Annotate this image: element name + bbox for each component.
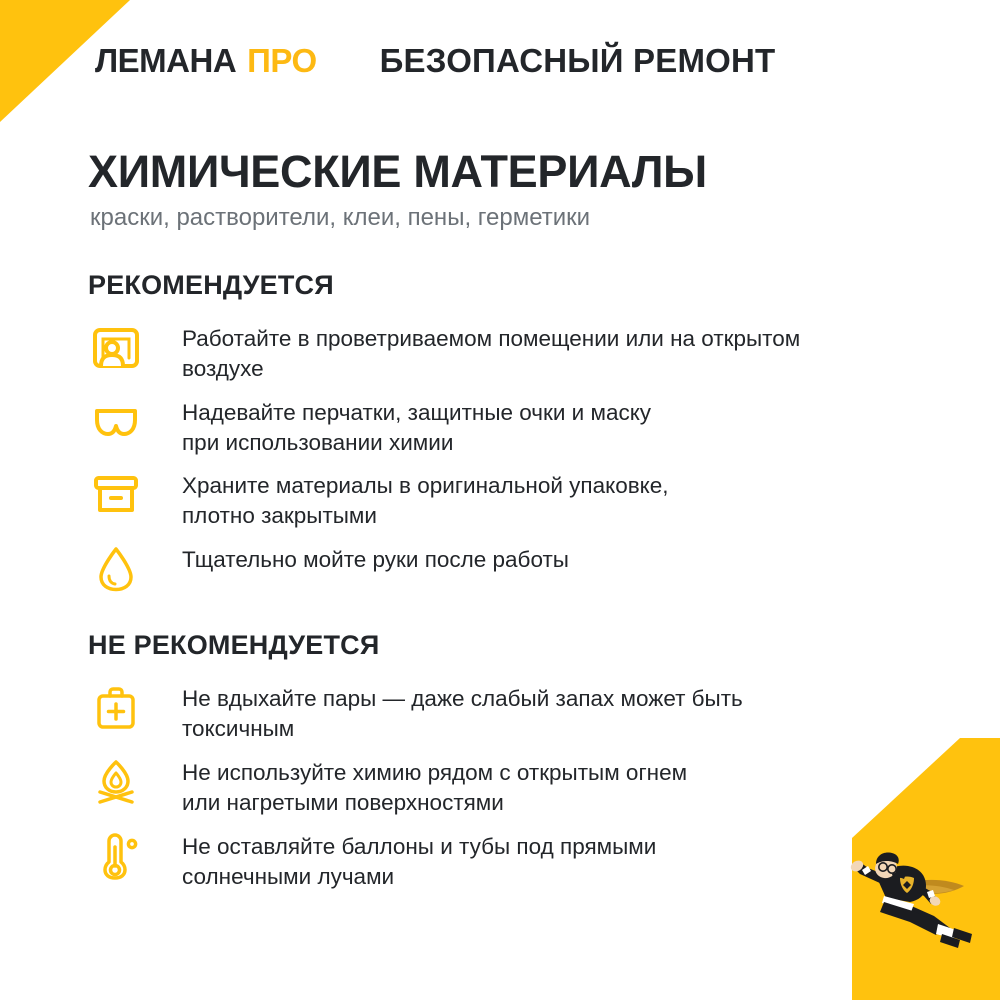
thermometer-icon: [88, 830, 144, 882]
header-title: БЕЗОПАСНЫЙ РЕМОНТ: [380, 42, 776, 80]
list-item-text: Не оставляйте баллоны и тубы под прямыми…: [182, 830, 656, 892]
page-subtitle: краски, растворители, клеи, пены, гермет…: [90, 204, 590, 232]
logo-text-lemana: ЛЕМАНА: [95, 42, 236, 80]
safety-goggles-icon: [88, 396, 144, 448]
storage-box-icon: [88, 469, 144, 521]
section-not-recommended: НЕ РЕКОМЕНДУЕТСЯ Не вдыхайте пары — даже…: [88, 630, 908, 904]
not-recommended-list: Не вдыхайте пары — даже слабый запах мож…: [88, 682, 908, 904]
list-item-text: Надевайте перчатки, защитные очки и маск…: [182, 396, 651, 458]
section-recommended: РЕКОМЕНДУЕТСЯ Работайте в проветриваемом…: [88, 270, 908, 612]
list-item: Работайте в проветриваемом помещении или…: [88, 322, 908, 384]
list-item-text: Не используйте химию рядом с открытым ог…: [182, 756, 687, 818]
list-item-text: Тщательно мойте руки после работы: [182, 543, 569, 575]
brand-logo: ЛЕМАНА ПРО: [95, 42, 317, 80]
flying-superhero-mascot: [838, 842, 978, 952]
header: ЛЕМАНА ПРО БЕЗОПАСНЫЙ РЕМОНТ: [95, 42, 775, 80]
list-item-text: Работайте в проветриваемом помещении или…: [182, 322, 800, 384]
list-item: Надевайте перчатки, защитные очки и маск…: [88, 396, 908, 458]
poster-canvas: ЛЕМАНА ПРО БЕЗОПАСНЫЙ РЕМОНТ ХИМИЧЕСКИЕ …: [0, 0, 1000, 1000]
first-aid-kit-icon: [88, 682, 144, 734]
section-heading-not-recommended: НЕ РЕКОМЕНДУЕТСЯ: [88, 630, 908, 661]
campfire-icon: [88, 756, 144, 808]
list-item: Не вдыхайте пары — даже слабый запах мож…: [88, 682, 908, 744]
logo-text-pro: ПРО: [247, 42, 316, 80]
recommended-list: Работайте в проветриваемом помещении или…: [88, 322, 908, 612]
window-person-icon: [88, 322, 144, 374]
list-item-text: Не вдыхайте пары — даже слабый запах мож…: [182, 682, 743, 744]
list-item: Тщательно мойте руки после работы: [88, 543, 908, 601]
list-item: Храните материалы в оригинальной упаковк…: [88, 469, 908, 531]
list-item-text: Храните материалы в оригинальной упаковк…: [182, 469, 669, 531]
list-item: Не оставляйте баллоны и тубы под прямыми…: [88, 830, 908, 892]
water-drop-icon: [88, 543, 144, 595]
list-item: Не используйте химию рядом с открытым ог…: [88, 756, 908, 818]
section-heading-recommended: РЕКОМЕНДУЕТСЯ: [88, 270, 908, 301]
page-title: ХИМИЧЕСКИЕ МАТЕРИАЛЫ: [88, 146, 707, 198]
